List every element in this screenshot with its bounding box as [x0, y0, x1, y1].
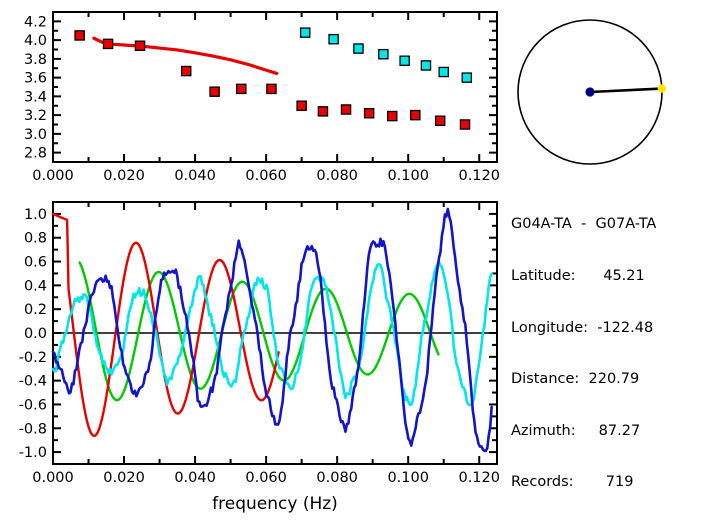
dispersion-point-red: [297, 101, 306, 110]
x-tick-label: 0.000: [32, 168, 74, 184]
x-tick-label: 0.020: [103, 470, 145, 486]
y-tick-label: -1.0: [19, 445, 47, 461]
station-info-panel: G04A-TA - G07A-TA Latitude: 45.21 Longit…: [511, 182, 703, 526]
dispersion-point-red: [436, 116, 445, 125]
dispersion-point-red-marker: [75, 31, 84, 40]
dispersion-point-cyan-marker: [421, 61, 430, 70]
x-tick-label: 0.100: [387, 168, 429, 184]
x-tick-label: 0.100: [387, 470, 429, 486]
dispersion-point-red-marker: [135, 41, 144, 50]
latitude-row: Latitude: 45.21: [511, 268, 703, 285]
dispersion-point-red-marker: [103, 39, 112, 48]
dial-center-dot: [585, 87, 594, 96]
records-row: Records: 719: [511, 474, 703, 491]
dispersion-point-red-marker: [318, 107, 327, 116]
dispersion-point-red: [341, 105, 350, 114]
dispersion-point-red: [135, 41, 144, 50]
dispersion-point-cyan-marker: [354, 44, 363, 53]
dispersion-point-red: [388, 111, 397, 120]
dispersion-point-cyan: [421, 61, 430, 70]
x-axis-title: frequency (Hz): [212, 494, 338, 514]
y-tick-label: 0.4: [24, 278, 47, 294]
dispersion-point-red: [237, 84, 246, 93]
dispersion-point-cyan-marker: [379, 50, 388, 59]
y-tick-label: 3.8: [24, 52, 47, 68]
dispersion-point-red-marker: [388, 111, 397, 120]
dispersion-point-red-marker: [297, 101, 306, 110]
y-tick-label: 0.2: [24, 302, 47, 318]
dispersion-point-red-marker: [365, 109, 374, 118]
y-tick-label: 0.6: [24, 255, 47, 271]
dispersion-point-cyan-marker: [462, 73, 471, 82]
x-tick-label: 0.120: [458, 470, 500, 486]
dispersion-point-cyan-marker: [301, 28, 310, 37]
dispersion-point-red-marker: [411, 111, 420, 120]
y-tick-label: -0.8: [19, 421, 47, 437]
y-tick-label: 3.4: [24, 89, 47, 105]
figure-canvas: 2.83.03.23.43.63.84.04.20.0000.0200.0400…: [0, 0, 703, 519]
dispersion-point-red: [267, 84, 276, 93]
cross-correlation-chart: -1.0-0.8-0.6-0.4-0.20.00.20.40.60.81.00.…: [0, 190, 510, 520]
dispersion-point-cyan: [329, 35, 338, 44]
y-tick-label: 3.0: [24, 127, 47, 143]
dispersion-point-cyan: [379, 50, 388, 59]
dispersion-point-red: [103, 39, 112, 48]
x-tick-label: 0.080: [316, 470, 358, 486]
dispersion-point-red-marker: [436, 116, 445, 125]
x-tick-label: 0.080: [316, 168, 358, 184]
dispersion-point-cyan: [400, 56, 409, 65]
x-tick-label: 0.040: [174, 168, 216, 184]
x-tick-label: 0.020: [103, 168, 145, 184]
dispersion-point-cyan: [301, 28, 310, 37]
y-tick-label: -0.4: [19, 374, 47, 390]
dispersion-point-red-marker: [210, 87, 219, 96]
distance-row: Distance: 220.79: [511, 371, 703, 388]
longitude-row: Longitude: -122.48: [511, 320, 703, 337]
dispersion-point-red-marker: [460, 120, 469, 129]
dispersion-point-red: [318, 107, 327, 116]
dispersion-point-cyan-marker: [439, 67, 448, 76]
y-tick-label: 1.0: [24, 207, 47, 223]
dispersion-point-red: [411, 111, 420, 120]
dispersion-chart: 2.83.03.23.43.63.84.04.20.0000.0200.0400…: [0, 0, 510, 192]
y-tick-label: 3.2: [24, 108, 47, 124]
dispersion-point-red: [182, 66, 191, 75]
y-tick-label: 4.0: [24, 33, 47, 49]
dispersion-point-red: [365, 109, 374, 118]
dispersion-point-cyan-marker: [329, 35, 338, 44]
dispersion-point-cyan: [354, 44, 363, 53]
y-tick-label: 0.8: [24, 231, 47, 247]
y-tick-label: 3.6: [24, 71, 47, 87]
dispersion-point-red-marker: [267, 84, 276, 93]
dispersion-point-cyan-marker: [400, 56, 409, 65]
azimuth-row: Azimuth: 87.27: [511, 423, 703, 440]
dispersion-point-cyan: [439, 67, 448, 76]
y-tick-label: 2.8: [24, 146, 47, 162]
dispersion-point-red-marker: [182, 66, 191, 75]
dispersion-point-red-marker: [237, 84, 246, 93]
y-tick-label: 0.0: [24, 326, 47, 342]
x-tick-label: 0.060: [245, 168, 287, 184]
azimuth-dial: [511, 8, 703, 180]
dispersion-point-red-marker: [341, 105, 350, 114]
station-pair-label: G04A-TA - G07A-TA: [511, 216, 703, 233]
x-tick-label: 0.120: [458, 168, 500, 184]
dispersion-point-red: [210, 87, 219, 96]
dispersion-point-red: [75, 31, 84, 40]
y-tick-label: -0.6: [19, 397, 47, 413]
x-tick-label: 0.060: [245, 470, 287, 486]
dial-station-dot: [658, 84, 666, 92]
dial-ray: [590, 89, 662, 92]
y-tick-label: -0.2: [19, 350, 47, 366]
x-tick-label: 0.040: [174, 470, 216, 486]
dispersion-point-red: [460, 120, 469, 129]
dispersion-point-cyan: [462, 73, 471, 82]
y-tick-label: 4.2: [24, 14, 47, 30]
x-tick-label: 0.000: [32, 470, 74, 486]
